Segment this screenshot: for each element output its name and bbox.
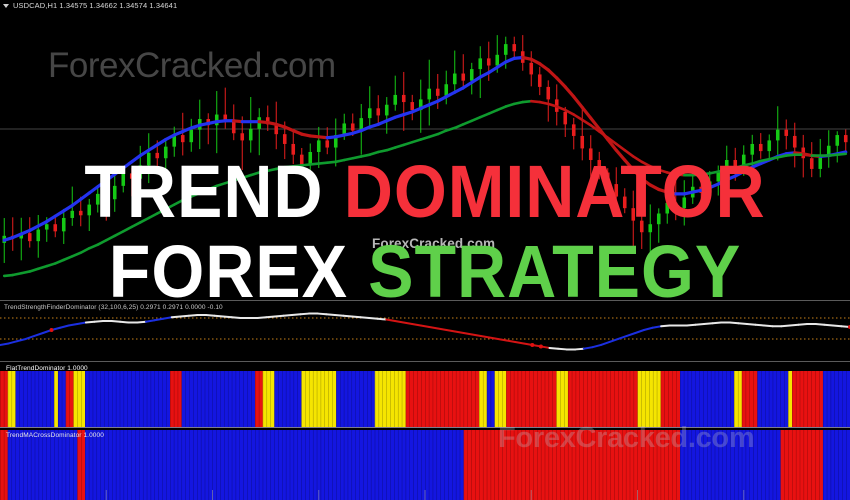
ma-cross-label: TrendMACrossDominator 1.0000 [6, 432, 104, 439]
flat-trend-label: FlatTrendDominator 1.0000 [6, 365, 88, 372]
symbol-bar: USDCAD,H1 1.34575 1.34662 1.34574 1.3464… [0, 0, 850, 11]
price-chart-pane[interactable] [0, 11, 850, 300]
triangle-down-icon[interactable] [3, 4, 9, 8]
flat-trend-histogram [0, 362, 850, 427]
ma-cross-histogram [0, 428, 850, 500]
candlestick-chart [0, 11, 850, 300]
trend-strength-finder-dominator-pane[interactable]: TrendStrengthFinderDominator (32,100,6,2… [0, 300, 850, 362]
symbol-ohlc-text: USDCAD,H1 1.34575 1.34662 1.34574 1.3464… [13, 1, 177, 10]
mt4-chart-window: USDCAD,H1 1.34575 1.34662 1.34574 1.3464… [0, 0, 850, 500]
trend-ma-cross-dominator-pane[interactable]: TrendMACrossDominator 1.0000 [0, 427, 850, 500]
flat-trend-dominator-pane[interactable]: FlatTrendDominator 1.0000 [0, 362, 850, 427]
oscillator-label: TrendStrengthFinderDominator (32,100,6,2… [4, 304, 223, 311]
